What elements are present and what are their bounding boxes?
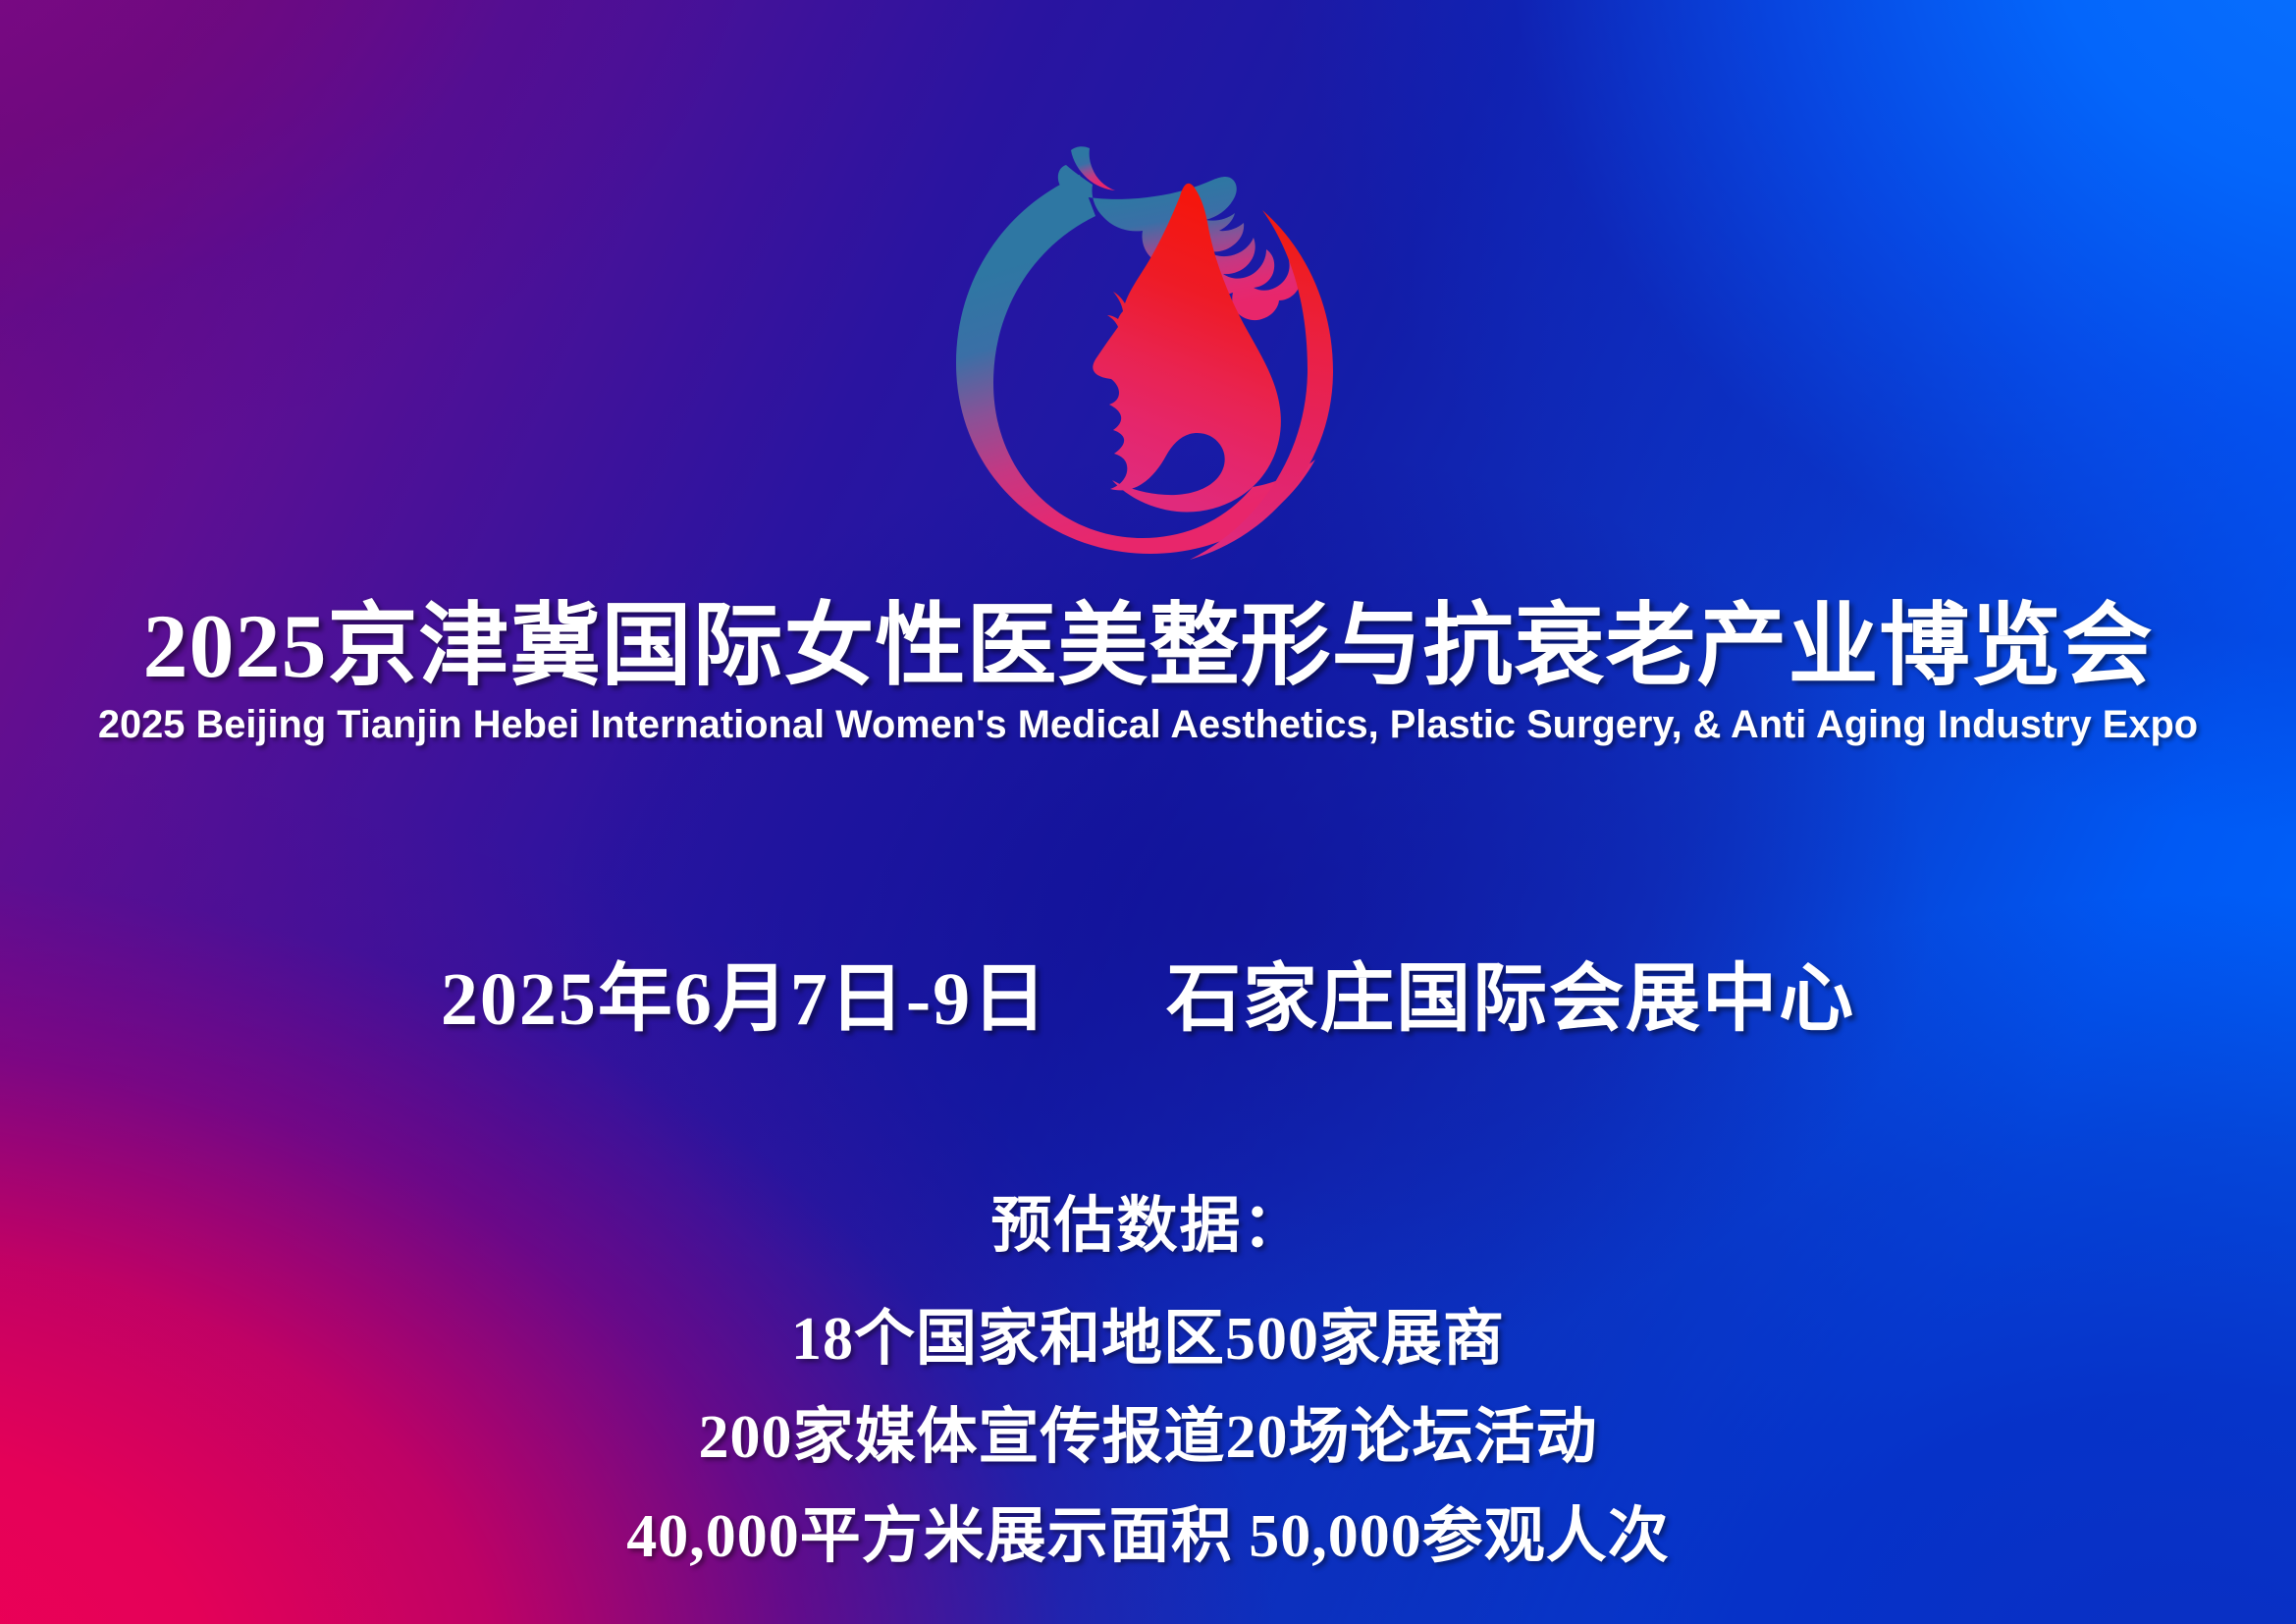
stats-list: 18个国家和地区500家展商 200家媒体宣传报道20场论坛活动 40,000平… [0, 1290, 2296, 1586]
expo-poster: 2025京津冀国际女性医美整形与抗衰老产业博览会 2025 Beijing Ti… [0, 0, 2296, 1624]
page-title-english: 2025 Beijing Tianjin Hebei International… [6, 704, 2290, 746]
expo-logo [933, 77, 1364, 568]
woman-profile-icon [1093, 184, 1281, 513]
title-block: 2025京津冀国际女性医美整形与抗衰老产业博览会 2025 Beijing Ti… [0, 599, 2296, 746]
date-venue-row: 2025年6月7日-9日 石家庄国际会展中心 [0, 962, 2296, 1037]
event-date: 2025年6月7日-9日 [441, 962, 1048, 1037]
event-venue: 石家庄国际会展中心 [1166, 962, 1855, 1037]
stats-line-area-visitors: 40,000平方米展示面积 50,000参观人次 [0, 1488, 2296, 1586]
estimated-stats-block: 预估数据： 18个国家和地区500家展商 200家媒体宣传报道20场论坛活动 4… [0, 1196, 2296, 1586]
page-title-chinese: 2025京津冀国际女性医美整形与抗衰老产业博览会 [0, 599, 2296, 694]
stats-line-media-forums: 200家媒体宣传报道20场论坛活动 [0, 1388, 2296, 1487]
poster-content: 2025京津冀国际女性医美整形与抗衰老产业博览会 2025 Beijing Ti… [0, 0, 2296, 1624]
stats-line-exhibitors: 18个国家和地区500家展商 [0, 1290, 2296, 1388]
stats-heading: 预估数据： [0, 1196, 2296, 1257]
